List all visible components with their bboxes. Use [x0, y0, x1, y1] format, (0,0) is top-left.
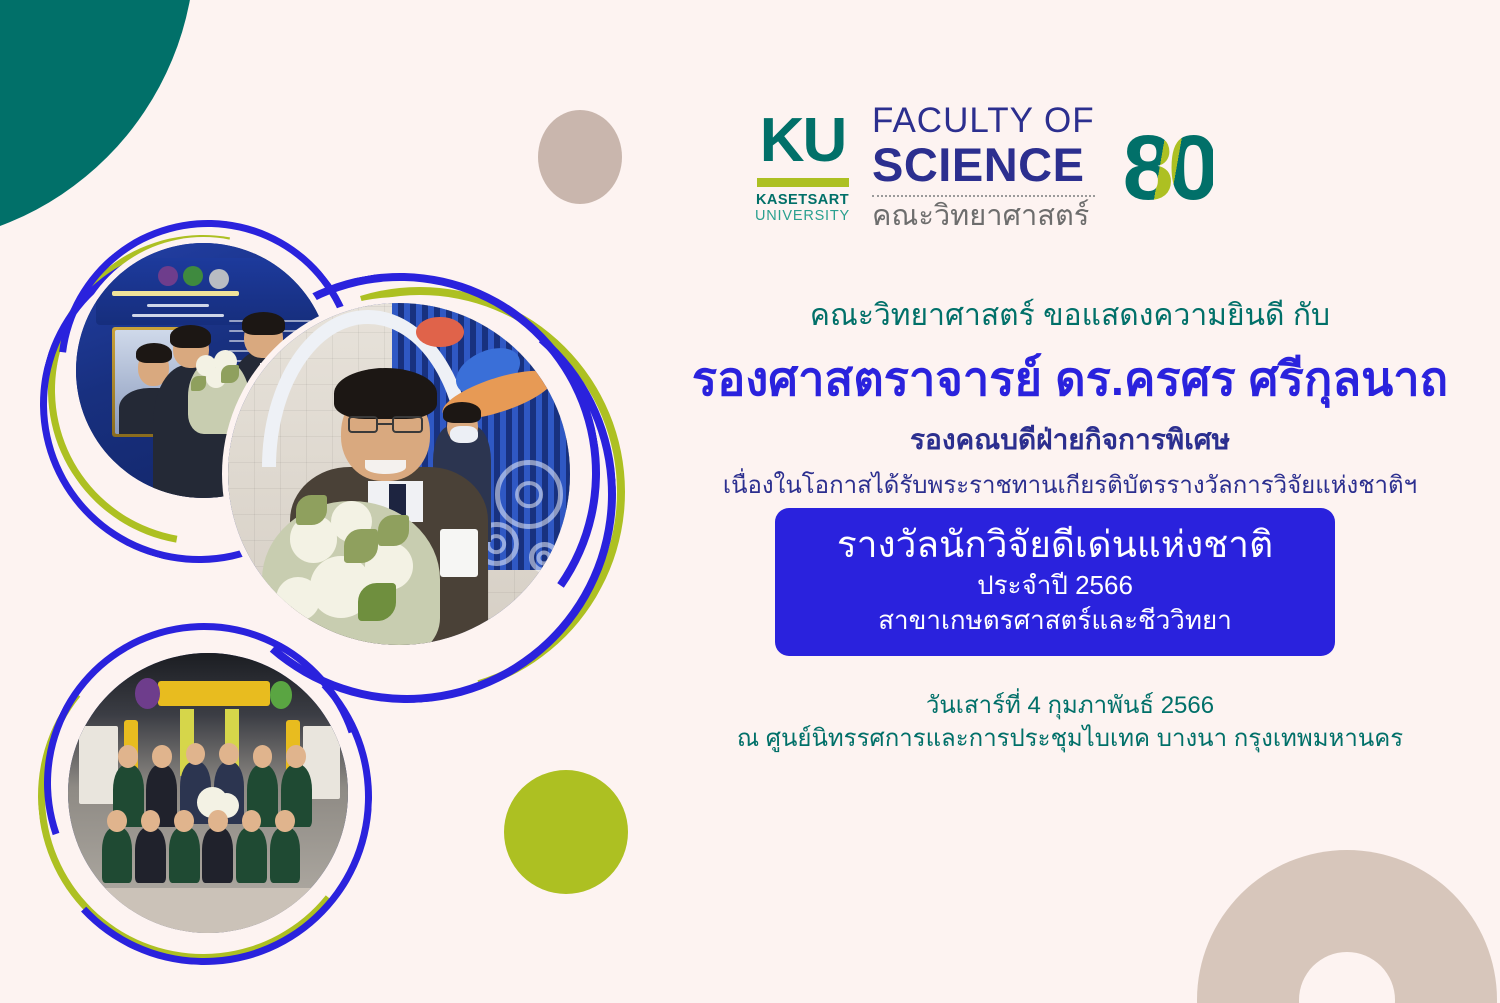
dotted-divider — [872, 195, 1095, 197]
greeting-text: คณะวิทยาศาสตร์ ขอแสดงความยินดี กับ — [640, 298, 1500, 334]
occasion-text: เนื่องในโอกาสได้รับพระราชทานเกียรติบัตรร… — [630, 470, 1500, 501]
photo-cluster — [30, 225, 650, 945]
photo-group — [68, 653, 348, 933]
congratulations-poster: KU KASETSART UNIVERSITY FACULTY OF SCIEN… — [0, 0, 1500, 1003]
event-date: วันเสาร์ที่ 4 กุมภาพันธ์ 2566 — [640, 690, 1500, 721]
award-field: สาขาเกษตรศาสตร์และชีววิทยา — [797, 603, 1313, 638]
ku-university-label: UNIVERSITY — [755, 208, 850, 224]
zone-sign — [158, 681, 270, 706]
ku-letters: KU — [760, 112, 846, 171]
ku-rule-divider — [757, 178, 849, 187]
photo-honoree-portrait — [228, 303, 570, 645]
honoree-name: รองศาสตราจารย์ ดร.ครศร ศรีกุลนาถ — [620, 352, 1500, 406]
science-label: SCIENCE — [872, 140, 1095, 189]
honoree-position: รองคณบดีฝ่ายกิจการพิเศษ — [640, 423, 1500, 457]
logo-row: KU KASETSART UNIVERSITY FACULTY OF SCIEN… — [755, 103, 1213, 233]
event-venue: ณ ศูนย์นิทรรศการและการประชุมไบเทค บางนา … — [620, 723, 1500, 754]
award-year: ประจำปี 2566 — [797, 568, 1313, 603]
80th-anniversary-logo: 80 — [1123, 122, 1213, 214]
teal-quarter-circle-decoration — [0, 0, 195, 245]
award-highlight-box: รางวัลนักวิจัยดีเด่นแห่งชาติ ประจำปี 256… — [775, 508, 1335, 656]
faculty-thai-label: คณะวิทยาศาสตร์ — [872, 201, 1095, 233]
taupe-ellipse-decoration — [538, 110, 622, 204]
content-column: KU KASETSART UNIVERSITY FACULTY OF SCIEN… — [640, 0, 1500, 1003]
ku-kasetsart-label: KASETSART — [756, 192, 849, 208]
faculty-of-label: FACULTY OF — [872, 103, 1095, 138]
faculty-of-science-logo: FACULTY OF SCIENCE คณะวิทยาศาสตร์ — [868, 103, 1095, 233]
award-title: รางวัลนักวิจัยดีเด่นแห่งชาติ — [797, 522, 1313, 568]
ku-logo: KU KASETSART UNIVERSITY — [755, 112, 850, 224]
